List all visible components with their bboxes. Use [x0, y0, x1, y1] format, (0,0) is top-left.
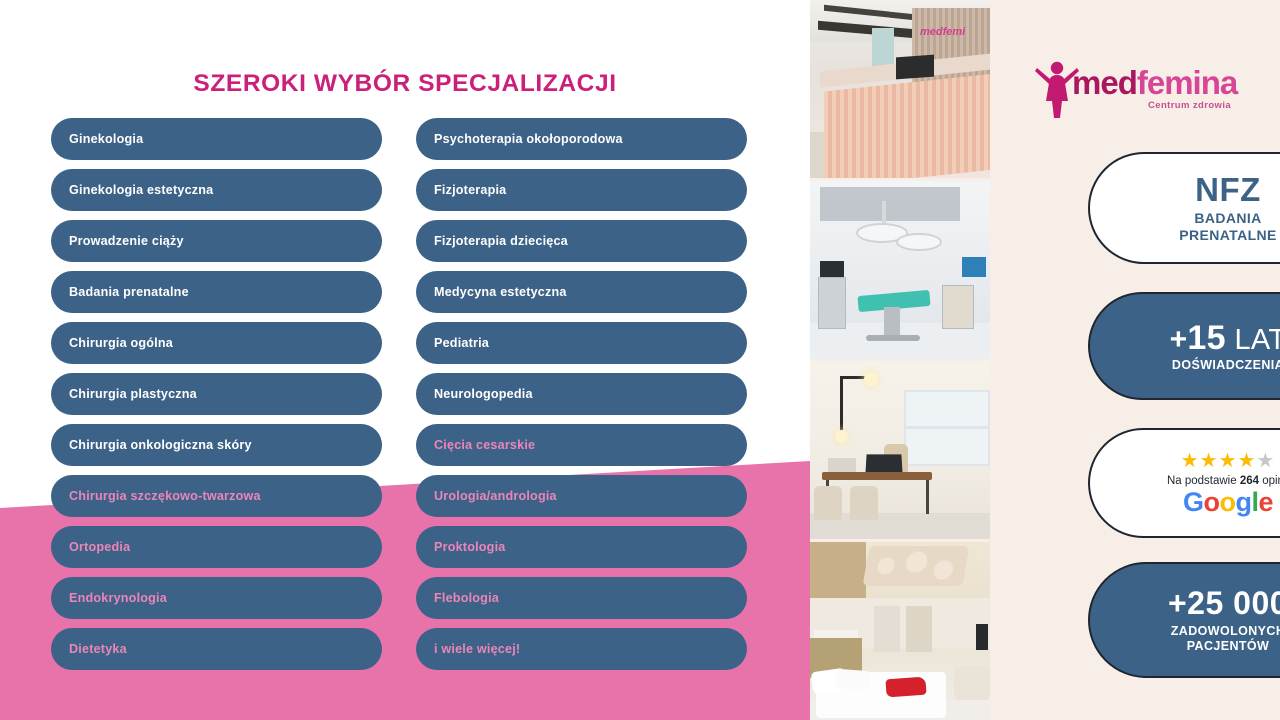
nfz-subtext: BADANIA PRENATALNE: [1179, 210, 1277, 242]
nfz-line-2: PRENATALNE: [1179, 227, 1277, 243]
specialization-pill[interactable]: Neurologopedia: [416, 373, 747, 415]
specialization-pill[interactable]: Pediatria: [416, 322, 747, 364]
specialization-pill[interactable]: i wiele więcej!: [416, 628, 747, 670]
medfemina-logo: medfemina Centrum zdrowia: [1020, 52, 1270, 122]
specialization-pill[interactable]: Chirurgia plastyczna: [51, 373, 382, 415]
specialization-pill[interactable]: Ortopedia: [51, 526, 382, 568]
badge-google-reviews[interactable]: ★★★★★ Na podstawie 264 opinii Google: [1088, 428, 1280, 538]
specialization-pill[interactable]: Medycyna estetyczna: [416, 271, 747, 313]
specialization-column-left: Ginekologia Ginekologia estetyczna Prowa…: [51, 118, 382, 670]
patient-room-photo: [810, 542, 990, 720]
specialization-pill[interactable]: Psychoterapia okołoporodowa: [416, 118, 747, 160]
operating-room-photo: [810, 181, 990, 362]
specialization-pill[interactable]: Proktologia: [416, 526, 747, 568]
years-subtext: DOŚWIADCZENIA: [1172, 358, 1280, 372]
specialization-pill[interactable]: Chirurgia szczękowo-twarzowa: [51, 475, 382, 517]
page-title: SZEROKI WYBÓR SPECJALIZACJI: [0, 70, 810, 98]
star-half: ★: [1256, 450, 1275, 472]
specialization-pill[interactable]: Chirurgia onkologiczna skóry: [51, 424, 382, 466]
stars-full: ★★★★: [1181, 450, 1257, 472]
reception-desk-photo: medfemi: [810, 0, 990, 181]
google-letter-l: l: [1251, 487, 1258, 517]
specialization-pill[interactable]: Dietetyka: [51, 628, 382, 670]
patients-subtext: ZADOWOLONYCH PACJENTÓW: [1171, 624, 1280, 654]
review-prefix: Na podstawie: [1167, 475, 1240, 487]
specialization-pill[interactable]: Ginekologia estetyczna: [51, 169, 382, 211]
specialization-pill[interactable]: Cięcia cesarskie: [416, 424, 747, 466]
brand-tagline: Centrum zdrowia: [1148, 100, 1231, 111]
specialization-pill[interactable]: Ginekologia: [51, 118, 382, 160]
nfz-line-1: BADANIA: [1179, 210, 1277, 226]
specialization-pill[interactable]: Fizjoterapia: [416, 169, 747, 211]
star-rating-icon: ★★★★★: [1181, 451, 1276, 471]
badge-satisfied-patients[interactable]: +25 000 ZADOWOLONYCH PACJENTÓW: [1088, 562, 1280, 678]
google-letter-g2: g: [1235, 487, 1251, 517]
google-letter-o1: o: [1203, 487, 1219, 517]
years-headline: +15 LAT: [1170, 321, 1280, 355]
review-count: 264: [1240, 475, 1259, 487]
brand-info-panel: medfemina Centrum zdrowia NFZ BADANIA PR…: [990, 0, 1280, 720]
patients-line-2: PACJENTÓW: [1171, 639, 1280, 654]
years-plus: +: [1170, 323, 1188, 356]
specialization-pill[interactable]: Urologia/andrologia: [416, 475, 747, 517]
brand-wordmark: medfemina: [1072, 66, 1237, 99]
review-suffix: opinii: [1259, 475, 1280, 487]
badge-nfz-prenatal[interactable]: NFZ BADANIA PRENATALNE: [1088, 152, 1280, 264]
specialization-pill[interactable]: Flebologia: [416, 577, 747, 619]
consultation-room-photo: [810, 362, 990, 543]
specialization-columns: Ginekologia Ginekologia estetyczna Prowa…: [51, 118, 761, 670]
clinic-photo-strip: medfemi: [810, 0, 990, 720]
wall-logo-text: medfemi: [920, 26, 982, 54]
patients-line-1: ZADOWOLONYCH: [1171, 624, 1280, 639]
specialization-pill[interactable]: Badania prenatalne: [51, 271, 382, 313]
specialization-pill[interactable]: Chirurgia ogólna: [51, 322, 382, 364]
google-letter-e: e: [1259, 487, 1274, 517]
patients-headline: +25 000: [1168, 587, 1280, 619]
review-count-text: Na podstawie 264 opinii: [1167, 475, 1280, 487]
specialization-pill[interactable]: Endokrynologia: [51, 577, 382, 619]
google-letter-g1: G: [1183, 487, 1204, 517]
google-logo: Google: [1183, 489, 1273, 516]
years-number: 15: [1187, 319, 1225, 357]
specialization-column-right: Psychoterapia okołoporodowa Fizjoterapia…: [416, 118, 747, 670]
google-letter-o2: o: [1219, 487, 1235, 517]
specialization-pill[interactable]: Fizjoterapia dziecięca: [416, 220, 747, 262]
brand-word-med: med: [1072, 64, 1137, 101]
specializations-section: SZEROKI WYBÓR SPECJALIZACJI Ginekologia …: [0, 0, 810, 720]
nfz-headline: NFZ: [1195, 173, 1261, 206]
years-unit: LAT: [1234, 324, 1280, 356]
badge-years-experience[interactable]: +15 LAT DOŚWIADCZENIA: [1088, 292, 1280, 400]
brand-word-femina: femina: [1137, 64, 1237, 101]
specialization-pill[interactable]: Prowadzenie ciąży: [51, 220, 382, 262]
